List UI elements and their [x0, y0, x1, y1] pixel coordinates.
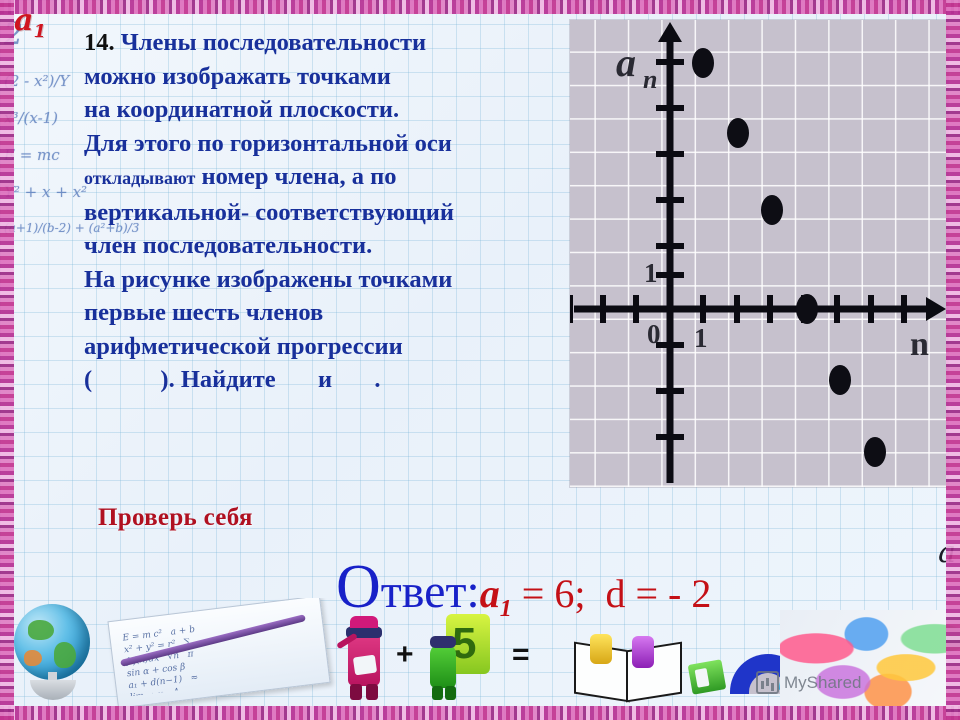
problem-line: на координатной плоскости.	[84, 93, 564, 127]
data-point	[796, 294, 818, 324]
origin-label-0: 0	[647, 319, 661, 349]
globe-landmass	[28, 620, 54, 640]
globe-icon	[14, 604, 90, 680]
pink-character-illustration	[340, 608, 388, 700]
problem-line: вертикальной- соответствующий	[84, 196, 564, 230]
data-point	[692, 48, 714, 78]
character-hat	[350, 616, 378, 628]
character-body	[430, 644, 456, 688]
problem-line: 14. Члены последовательности	[84, 26, 564, 60]
myshared-watermark-text: MyShared	[784, 673, 861, 693]
problem-line: ( ). Найдите и .	[84, 363, 564, 397]
coordinate-plane-chart: a n n 1 0 1	[570, 20, 948, 487]
handwritten-line: E = mc	[4, 147, 86, 164]
data-points	[692, 48, 886, 467]
character-leg	[445, 686, 456, 700]
y-tick-label-1: 1	[644, 258, 658, 288]
character-head	[430, 636, 456, 648]
decorative-border-right	[946, 0, 960, 720]
myshared-watermark: MyShared	[756, 671, 861, 694]
problem-number: 14.	[84, 29, 115, 56]
character-leg	[366, 684, 378, 700]
problem-line: член последовательности.	[84, 229, 564, 263]
decorative-border-bottom	[0, 706, 960, 720]
paper-sheet-illustration: E = m c² a + b x² + y² = r² ∑ ∫ f(x)dx √…	[107, 598, 330, 706]
yellow-character	[590, 634, 612, 664]
corner-label-subscript: 1	[33, 21, 46, 42]
x-axis-title: n	[910, 326, 929, 363]
handwritten-line: x³/(x-1)	[4, 110, 86, 127]
data-point	[727, 118, 749, 148]
axis-x	[574, 297, 946, 321]
y-axis-title-subscript: n	[643, 65, 657, 94]
problem-line: арифметической прогрессии	[84, 330, 564, 364]
slide-canvas: 2 (2 - x²)/Y x³/(x-1) E = mc Y² + x + x²…	[0, 0, 960, 720]
purple-character	[632, 636, 654, 668]
problem-line-text: Найдите	[181, 366, 276, 393]
problem-line: откладывают номер члена, а по	[84, 160, 564, 196]
open-book-illustration	[574, 646, 678, 698]
green-character-illustration: 5	[428, 606, 498, 700]
equals-sign-icon: =	[512, 638, 530, 672]
data-point	[761, 195, 783, 225]
globe-landmass	[24, 650, 42, 666]
chart-svg: a n n 1 0 1	[570, 20, 948, 487]
problem-line: первые шесть членов	[84, 296, 564, 330]
problem-line-text: номер члена, а по	[201, 163, 396, 190]
problem-line-text: Члены последовательности	[121, 29, 426, 56]
character-book	[353, 655, 377, 676]
conjunction: и	[318, 366, 332, 393]
check-yourself-label: Проверь себя	[98, 504, 253, 532]
problem-line: Для этого по горизонтальной оси	[84, 127, 564, 161]
data-point	[864, 437, 886, 467]
y-axis-title: a	[616, 40, 636, 85]
problem-line: можно изображать точками	[84, 60, 564, 94]
problem-line-text-small: откладывают	[84, 168, 195, 188]
plus-sign-icon: +	[396, 638, 414, 672]
character-leg	[432, 686, 443, 700]
problem-line: На рисунке изображены точками	[84, 263, 564, 297]
globe-landmass	[54, 642, 76, 668]
paren-close: ).	[160, 366, 174, 393]
handwritten-line: (a+1)/(b-2) + (a²+b)/3	[4, 222, 86, 236]
handwritten-line: (2 - x²)/Y	[4, 73, 86, 90]
data-point	[829, 365, 851, 395]
decorative-border-top	[0, 0, 960, 14]
x-tick-label-1: 1	[694, 323, 708, 353]
globe-stand	[30, 680, 76, 700]
pencil-sharpener-icon	[688, 659, 727, 694]
period: .	[374, 366, 380, 393]
myshared-logo-icon	[756, 671, 779, 694]
decorative-border-left	[0, 0, 14, 720]
problem-text: 14. Члены последовательности можно изобр…	[84, 26, 564, 397]
axis-y	[658, 22, 682, 483]
character-leg	[350, 684, 362, 700]
handwritten-formulas-left: 2 (2 - x²)/Y x³/(x-1) E = mc Y² + x + x²…	[4, 18, 86, 498]
paren-open: (	[84, 366, 92, 393]
handwritten-line: Y² + x + x²	[4, 184, 86, 201]
